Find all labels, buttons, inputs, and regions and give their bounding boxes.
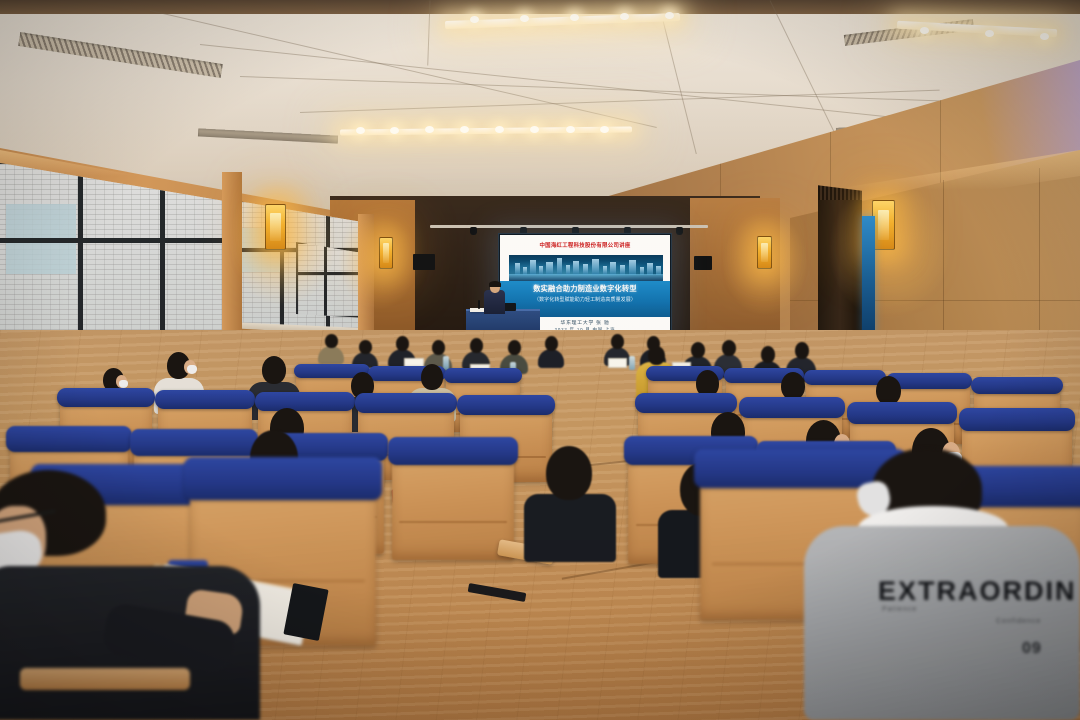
sweatshirt-subtext-right: Confidence (996, 618, 1041, 625)
skyline-building (583, 264, 588, 275)
skyline-building (539, 266, 543, 275)
ceiling-light-dot (1040, 33, 1049, 40)
head (876, 376, 901, 405)
sweatshirt-brand-text: EXTRAORDIN (878, 576, 1077, 607)
ceiling-light-dot (665, 12, 674, 19)
seat-headrest (635, 393, 737, 413)
face-mask (119, 380, 128, 388)
speaker-hair (489, 281, 501, 287)
head (396, 336, 409, 351)
ceiling-light-dot (425, 126, 434, 133)
ceiling-light-dot (600, 126, 609, 133)
slide-cityscape-image (509, 255, 663, 281)
head (722, 340, 736, 356)
seat-headrest (971, 377, 1062, 394)
stage-wood-panel-right (690, 198, 780, 350)
wall-sconce-left-2 (379, 237, 393, 269)
window-mullion-horizontal (0, 238, 230, 243)
slide-subtitle: （数字化转型赋能助力轻工制造高质量发展） (500, 296, 670, 303)
wall-sconce-right-1 (757, 236, 772, 269)
ceiling-light-dot (920, 27, 929, 34)
slide-header: 中国海红工程科技股份有限公司讲座 (500, 235, 670, 255)
microphone (478, 300, 480, 309)
head (691, 342, 705, 358)
head (262, 356, 286, 384)
head (432, 340, 445, 355)
conference-hall-photo: 中国海红工程科技股份有限公司讲座 (0, 0, 1080, 720)
stage-spotlight (676, 227, 683, 235)
ceiling-light-dot (530, 126, 539, 133)
ceiling-light-dot (495, 126, 504, 133)
head (648, 346, 665, 365)
torso (318, 346, 344, 364)
head (508, 340, 521, 355)
sweatshirt-subtext-left: Patience (882, 606, 917, 613)
sweatshirt-number: 09 (1022, 640, 1042, 658)
wall-sconce-left-1 (265, 204, 286, 250)
skyline-building (610, 262, 616, 275)
skyline-building (566, 265, 570, 275)
head (795, 342, 809, 359)
seat-armrest (20, 668, 190, 690)
wall-sconce-right-2 (872, 200, 895, 250)
ceiling-light-dot (566, 126, 575, 133)
skyline-building (557, 258, 562, 275)
torso (524, 494, 616, 562)
window-mullion-vertical (324, 244, 327, 318)
seat-seam (399, 521, 506, 523)
skyline-building (656, 266, 661, 275)
seat-headrest (959, 408, 1076, 431)
wall-monitor-left (694, 256, 712, 270)
seat-headrest (6, 426, 131, 452)
audience-person (318, 334, 344, 364)
ceiling-light-dot (460, 126, 469, 133)
head (545, 336, 558, 351)
skyline-building (647, 263, 653, 275)
ceiling-light-dot (985, 30, 994, 37)
seat-headrest (57, 388, 155, 407)
head (611, 334, 624, 349)
window-view-brick-wall (298, 244, 366, 316)
head (421, 364, 443, 390)
foreground-person-right: EXTRAORDIN Patience Confidence 09 (790, 448, 1080, 720)
water-bottle (629, 356, 635, 370)
ceiling-light-dot (356, 127, 365, 134)
desk-name-card (608, 358, 627, 368)
audience-person (524, 446, 616, 562)
seat-back (392, 452, 514, 560)
skyline-building (523, 267, 527, 275)
wall-monitor-right (413, 254, 435, 270)
head (761, 346, 775, 363)
skyline-building (573, 261, 579, 275)
skyline-building (629, 260, 636, 275)
head (325, 334, 338, 348)
seat-headrest (847, 402, 957, 424)
ceiling-light-dot (520, 15, 529, 22)
head (470, 338, 483, 353)
auditorium-seat (392, 452, 514, 560)
stage-spotlight (470, 227, 477, 235)
torso (538, 349, 564, 368)
head (781, 372, 805, 400)
ceiling-light-dot (390, 127, 399, 134)
slide-title: 数实融合助力制造业数字化转型 (500, 284, 670, 294)
head (359, 340, 372, 354)
stage-paper (470, 308, 484, 312)
ceiling-light-dot (570, 14, 579, 21)
face-mask (187, 365, 197, 374)
skyline-building (546, 262, 553, 275)
skyline-building (515, 263, 520, 275)
head (546, 446, 592, 500)
ceiling-light-dot (620, 13, 629, 20)
slide-header-text: 中国海红工程科技股份有限公司讲座 (539, 241, 630, 249)
standing-display-panel (862, 216, 875, 334)
seat-headrest (388, 437, 517, 465)
seat-headrest (355, 393, 457, 413)
skyline-building (603, 266, 607, 275)
audience-person (538, 336, 564, 368)
skyline-building (530, 260, 536, 275)
speaker-torso (484, 290, 505, 314)
seat-headrest (457, 395, 555, 415)
ceiling-light-dot (470, 16, 479, 23)
seat-headrest (155, 390, 255, 409)
skyline-building (640, 267, 644, 275)
skyline-building (620, 265, 625, 275)
skyline-building (592, 259, 599, 275)
